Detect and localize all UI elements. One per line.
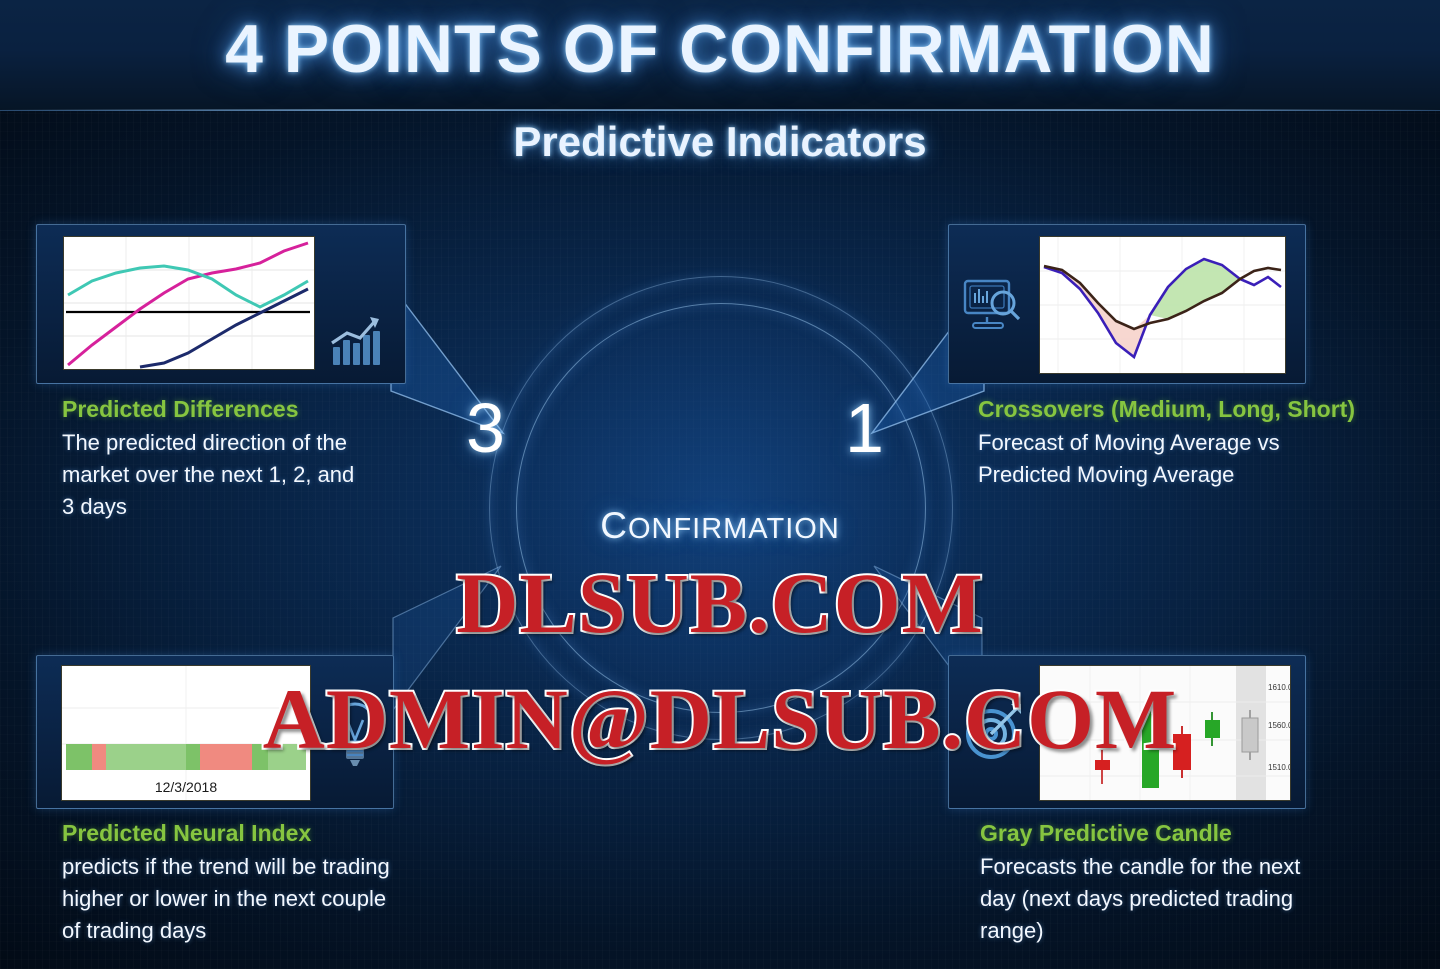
crossovers-chartbox [948,224,1306,384]
point-number-3: 3 [466,388,505,468]
neural-index-body: predicts if the trend will be trading hi… [62,851,407,947]
panel-predicted-differences[interactable]: Predicted Differences The predicted dire… [36,224,406,384]
panel-crossovers[interactable]: Crossovers (Medium, Long, Short) Forecas… [948,224,1306,384]
neural-index-heading: Predicted Neural Index [62,820,462,847]
center-confirmation-label: CONFIRMATION [440,505,1000,547]
crossovers-text: Crossovers (Medium, Long, Short) Forecas… [978,396,1440,491]
watermark-email: ADMIN@DLSUB.COM [0,669,1440,769]
crossovers-chart [1039,236,1286,374]
crossovers-heading: Crossovers (Medium, Long, Short) [978,396,1440,423]
predicted-differences-heading: Predicted Differences [62,396,412,423]
neural-index-text: Predicted Neural Index predicts if the t… [62,820,462,947]
crossovers-body: Forecast of Moving Average vs Predicted … [978,427,1338,491]
neural-index-date-label: 12/3/2018 [155,779,217,795]
gray-candle-text: Gray Predictive Candle Forecasts the can… [980,820,1380,947]
page-subtitle: Predictive Indicators [0,118,1440,166]
watermark-site: DLSUB.COM [0,553,1440,653]
bar-chart-growth-icon [327,313,385,371]
point-number-1: 1 [845,388,884,468]
gray-candle-heading: Gray Predictive Candle [980,820,1380,847]
predicted-differences-chart [63,236,315,370]
center-label-first-letter: C [600,505,628,546]
slide-canvas: 4 POINTS OF CONFIRMATION Predictive Indi… [0,0,1440,969]
monitor-analytics-icon [961,277,1025,333]
predicted-differences-chartbox [36,224,406,384]
predicted-differences-text: Predicted Differences The predicted dire… [62,396,412,523]
gray-candle-body: Forecasts the candle for the next day (n… [980,851,1320,947]
center-label-rest: ONFIRMATION [628,513,840,545]
predicted-differences-body: The predicted direction of the market ov… [62,427,370,523]
page-title: 4 POINTS OF CONFIRMATION [0,10,1440,88]
